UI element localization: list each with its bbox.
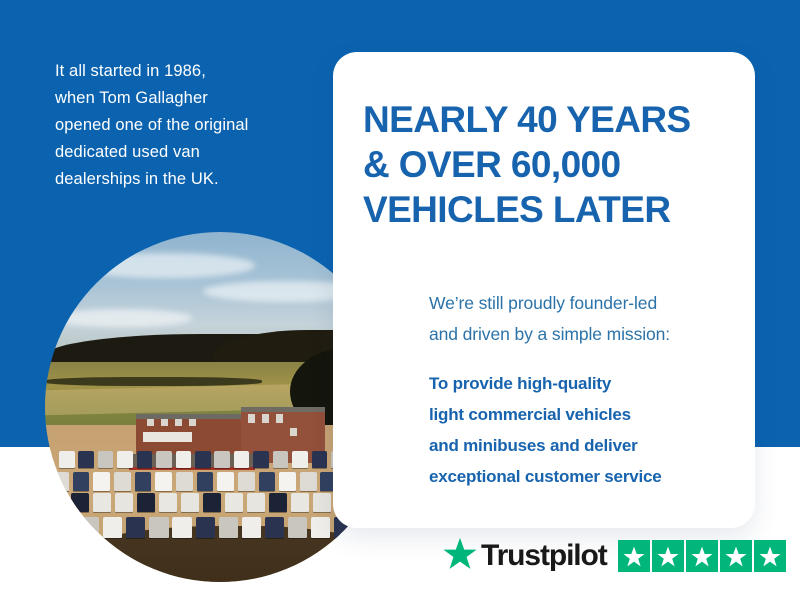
star-icon xyxy=(657,546,679,567)
intro-line-3: opened one of the original xyxy=(55,112,320,139)
photo-van xyxy=(311,517,330,537)
trustpilot-star-tile[interactable] xyxy=(618,540,650,572)
star-icon xyxy=(725,546,747,567)
trustpilot-wordmark: Trustpilot xyxy=(481,539,607,573)
photo-van xyxy=(196,517,215,537)
photo-van xyxy=(259,472,276,491)
photo-van xyxy=(234,451,250,469)
photo-van xyxy=(80,517,99,537)
photo-window xyxy=(189,419,197,426)
photo-van xyxy=(292,451,308,469)
trustpilot-logo[interactable]: Trustpilot xyxy=(443,537,607,575)
photo-window xyxy=(290,428,297,436)
photo-van xyxy=(137,493,155,513)
photo-van xyxy=(176,472,193,491)
photo-van xyxy=(269,493,287,513)
headline-line-3: VEHICLES LATER xyxy=(363,187,733,232)
photo-van xyxy=(78,451,94,469)
photo-van xyxy=(155,472,172,491)
mission-line-1: To provide high-quality xyxy=(429,368,749,399)
trustpilot-star-tile[interactable] xyxy=(652,540,684,572)
photo-van xyxy=(103,517,122,537)
photo-van xyxy=(176,451,192,469)
photo-van xyxy=(300,472,317,491)
star-icon xyxy=(623,546,645,567)
photo-van xyxy=(137,451,153,469)
mission-line-4: exceptional customer service xyxy=(429,461,749,492)
trustpilot-star-tile[interactable] xyxy=(720,540,752,572)
intro-line-5: dealerships in the UK. xyxy=(55,166,320,193)
photo-window xyxy=(175,419,183,426)
photo-van xyxy=(149,517,168,537)
intro-line-2: when Tom Gallagher xyxy=(55,85,320,112)
photo-van xyxy=(71,493,89,513)
photo-van xyxy=(291,493,309,513)
star-icon xyxy=(759,546,781,567)
trustpilot-star-icon xyxy=(443,537,477,575)
mission-line-2: light commercial vehicles xyxy=(429,399,749,430)
photo-van xyxy=(279,472,296,491)
photo-van xyxy=(313,493,331,513)
photo-van xyxy=(214,451,230,469)
photo-van xyxy=(115,493,133,513)
trustpilot-star-tiles[interactable] xyxy=(618,540,786,572)
mission-statement: To provide high-quality light commercial… xyxy=(429,368,749,492)
intro-paragraph: It all started in 1986, when Tom Gallagh… xyxy=(55,58,320,193)
photo-van xyxy=(203,493,221,513)
photo-van xyxy=(114,472,131,491)
photo-van xyxy=(73,472,90,491)
trustpilot-star-tile[interactable] xyxy=(686,540,718,572)
photo-van xyxy=(197,472,214,491)
photo-van xyxy=(52,472,69,491)
photo-van xyxy=(265,517,284,537)
intro-line-4: dedicated used van xyxy=(55,139,320,166)
photo-window xyxy=(262,414,269,423)
photo-van xyxy=(117,451,133,469)
photo-window xyxy=(147,419,155,426)
photo-van xyxy=(273,451,289,469)
photo-van xyxy=(219,517,238,537)
photo-van xyxy=(126,517,145,537)
photo-van xyxy=(49,493,67,513)
photo-van xyxy=(93,472,110,491)
mission-line-3: and minibuses and deliver xyxy=(429,430,749,461)
photo-van xyxy=(312,451,328,469)
photo-van xyxy=(195,451,211,469)
photo-window xyxy=(276,414,283,423)
photo-van xyxy=(242,517,261,537)
intro-line-1: It all started in 1986, xyxy=(55,58,320,85)
photo-van xyxy=(247,493,265,513)
subheading-line-2: and driven by a simple mission: xyxy=(429,319,749,350)
headline-line-1: NEARLY 40 YEARS xyxy=(363,97,733,142)
photo-van xyxy=(93,493,111,513)
photo-window xyxy=(248,414,255,423)
photo-van xyxy=(181,493,199,513)
subheading-line-1: We’re still proudly founder-led xyxy=(429,288,749,319)
subheading: We’re still proudly founder-led and driv… xyxy=(429,288,749,350)
trustpilot-rating[interactable]: Trustpilot xyxy=(443,537,786,575)
photo-van xyxy=(217,472,234,491)
photo-van xyxy=(98,451,114,469)
content-card: NEARLY 40 YEARS & OVER 60,000 VEHICLES L… xyxy=(333,52,755,528)
star-icon xyxy=(691,546,713,567)
photo-van xyxy=(253,451,269,469)
headline-line-2: & OVER 60,000 xyxy=(363,142,733,187)
photo-van xyxy=(238,472,255,491)
photo-window xyxy=(161,419,169,426)
photo-van xyxy=(156,451,172,469)
photo-van xyxy=(225,493,243,513)
photo-van xyxy=(172,517,191,537)
photo-van xyxy=(159,493,177,513)
photo-van xyxy=(288,517,307,537)
photo-van xyxy=(135,472,152,491)
photo-van xyxy=(59,451,75,469)
page-title: NEARLY 40 YEARS & OVER 60,000 VEHICLES L… xyxy=(363,97,733,232)
trustpilot-star-tile[interactable] xyxy=(754,540,786,572)
